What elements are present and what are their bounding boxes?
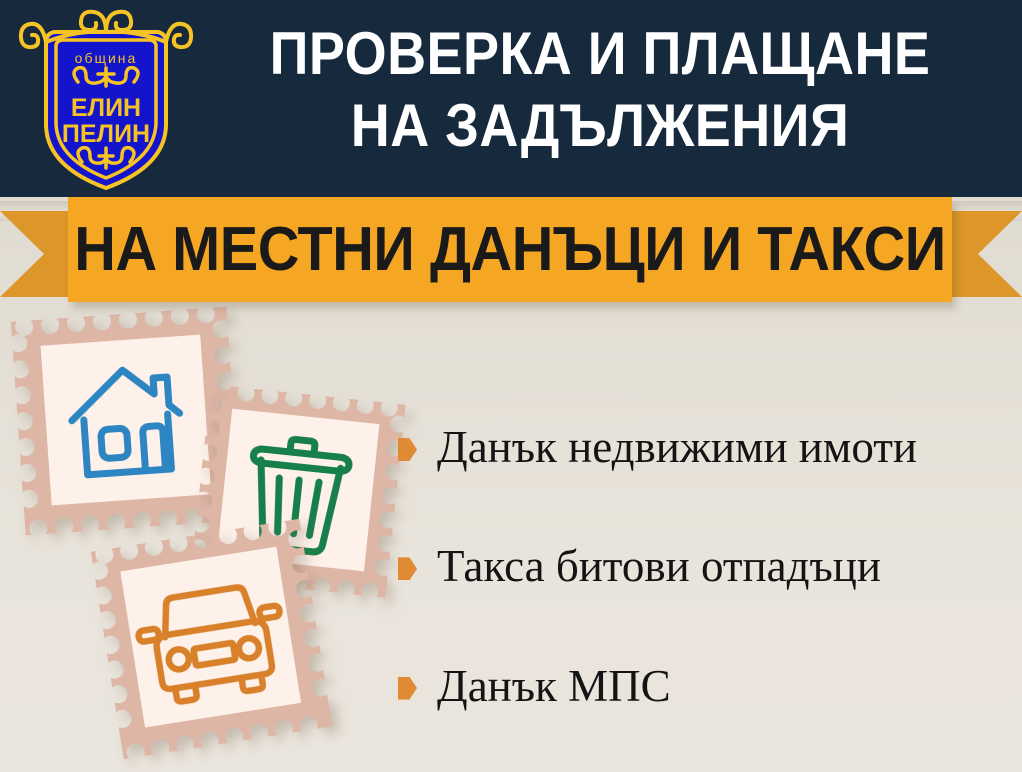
list-item-label: Данък МПС (437, 663, 671, 710)
list-item[interactable]: Данък недвижими имоти (398, 424, 1018, 471)
header-bar: община ЕЛИН ПЕЛИН (0, 0, 1022, 197)
list-item[interactable]: Такса битови отпадъци (398, 543, 1018, 590)
arrow-bullet-icon (398, 557, 417, 580)
poster-canvas: община ЕЛИН ПЕЛИН (0, 0, 1022, 772)
crest-line-2: ПЕЛИН (62, 120, 150, 148)
page-title: ПРОВЕРКА И ПЛАЩАНЕ НА ЗАДЪЛЖЕНИЯ (231, 18, 969, 162)
stamp-vehicle (89, 517, 335, 762)
list-item[interactable]: Данък МПС (398, 663, 1018, 710)
arrow-bullet-icon (398, 677, 417, 700)
ribbon-label: НА МЕСТНИ ДАНЪЦИ И ТАКСИ (99, 197, 921, 302)
municipality-logo: община ЕЛИН ПЕЛИН (18, 6, 194, 192)
arrow-bullet-icon (398, 438, 417, 461)
crest-line-top: община (75, 50, 138, 66)
list-item-label: Данък недвижими имоти (437, 424, 917, 471)
obligation-list: Данък недвижими имоти Такса битови отпад… (398, 424, 1018, 772)
list-item-label: Такса битови отпадъци (437, 543, 881, 590)
ribbon-main-panel: НА МЕСТНИ ДАНЪЦИ И ТАКСИ (68, 197, 952, 302)
ribbon-banner: НА МЕСТНИ ДАНЪЦИ И ТАКСИ (0, 197, 1022, 309)
crest-line-1: ЕЛИН (71, 94, 141, 122)
